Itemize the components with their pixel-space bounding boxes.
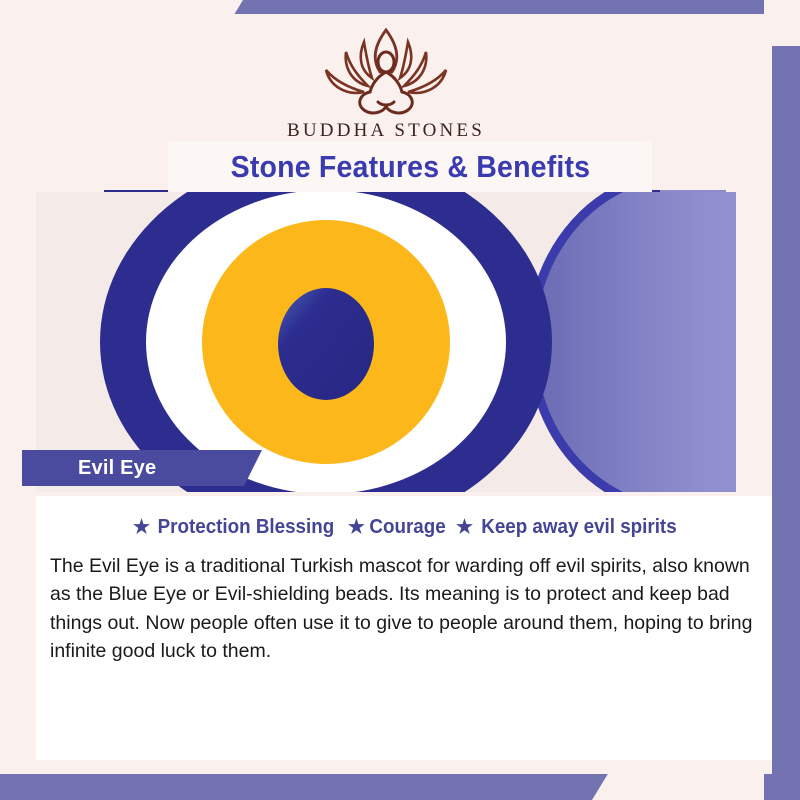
page-title-banner: Stone Features & Benefits: [168, 141, 652, 192]
star-icon: ★: [133, 517, 150, 538]
product-description: The Evil Eye is a traditional Turkish ma…: [50, 552, 758, 665]
product-label: Evil Eye: [78, 457, 156, 480]
page-title: Stone Features & Benefits: [230, 149, 590, 185]
evil-eye-bead-illustration: [36, 192, 736, 492]
feature-item-1: Courage: [369, 516, 445, 539]
infographic-card: BUDDHA STONES Stone Features & Benefits: [0, 0, 800, 800]
product-label-banner: Evil Eye: [22, 450, 262, 486]
product-image: [36, 192, 736, 492]
feature-list: ★Protection Blessing★Courage★Keep away e…: [36, 516, 772, 539]
brand-name: BUDDHA STONES: [0, 120, 772, 142]
star-icon: ★: [456, 517, 473, 538]
feature-item-0: Protection Blessing: [158, 516, 335, 539]
description-panel: ★Protection Blessing★Courage★Keep away e…: [36, 496, 772, 760]
star-icon: ★: [348, 517, 365, 538]
feature-item-2: Keep away evil spirits: [481, 516, 676, 539]
brand-logo: BUDDHA STONES: [0, 22, 772, 142]
lotus-meditation-icon: [286, 22, 486, 118]
